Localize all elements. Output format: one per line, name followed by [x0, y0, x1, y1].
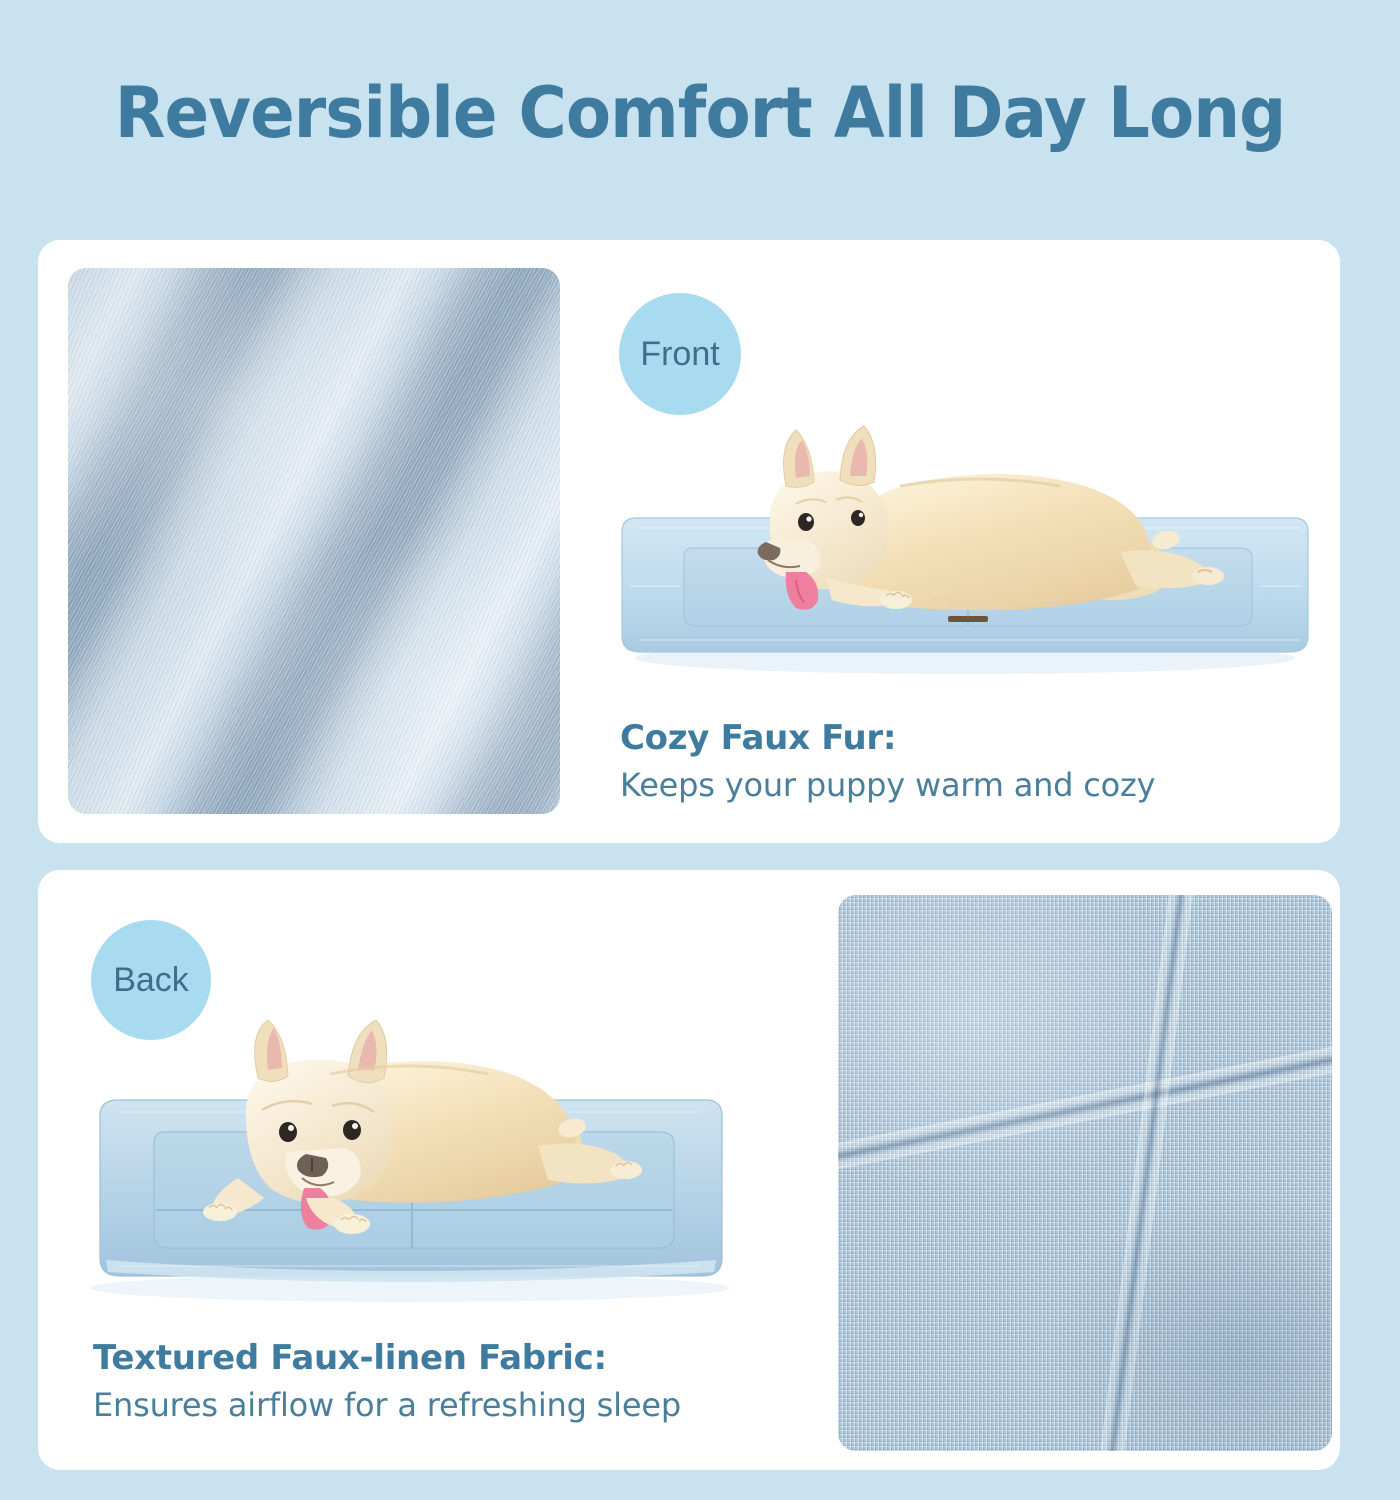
faux-fur-texture-swatch	[68, 268, 560, 814]
dog-on-linen-mat-illustration	[60, 1020, 760, 1310]
badge-front-label: Front	[640, 335, 719, 374]
dog-on-faux-linen-mat-photo	[60, 1020, 760, 1310]
caption-back: Textured Faux-linen Fabric: Ensures airf…	[93, 1338, 681, 1424]
caption-back-headline: Textured Faux-linen Fabric:	[93, 1338, 681, 1378]
mat-brand-tag	[948, 616, 988, 622]
fur-highlight-overlay	[68, 268, 560, 814]
badge-back: Back	[91, 920, 211, 1040]
faux-linen-texture-swatch	[838, 895, 1332, 1451]
caption-front-subline: Keeps your puppy warm and cozy	[620, 766, 1155, 804]
dog-on-fur-mat-illustration	[600, 400, 1330, 690]
caption-back-subline: Ensures airflow for a refreshing sleep	[93, 1386, 681, 1424]
caption-front-headline: Cozy Faux Fur:	[620, 718, 1155, 758]
page-title: Reversible Comfort All Day Long	[42, 72, 1358, 154]
badge-front: Front	[619, 293, 741, 415]
dog-on-faux-fur-mat-photo	[600, 400, 1330, 690]
linen-shading-overlay	[838, 895, 1332, 1451]
caption-front: Cozy Faux Fur: Keeps your puppy warm and…	[620, 718, 1155, 804]
badge-back-label: Back	[113, 961, 189, 1000]
